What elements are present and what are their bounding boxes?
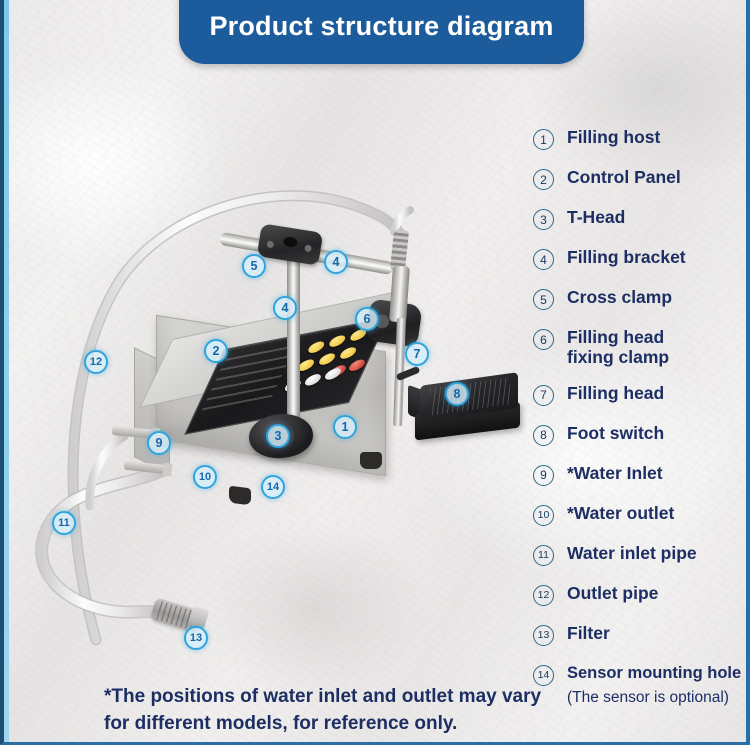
- page-title: Product structure diagram: [209, 11, 553, 42]
- panel-button-red-2[interactable]: [347, 358, 367, 372]
- legend-item-4[interactable]: 4 Filling bracket: [533, 248, 750, 270]
- legend-label-10: *Water outlet: [567, 504, 674, 524]
- cross-clamp-hole: [283, 236, 298, 248]
- legend-list: 1 Filling host 2 Control Panel 3 T-Head …: [533, 128, 750, 717]
- product-photo: [4, 0, 534, 690]
- legend-item-14[interactable]: 14 Sensor mounting hole: [533, 664, 750, 686]
- legend-label-3: T-Head: [567, 208, 625, 228]
- marker-outlet-pipe[interactable]: 12: [84, 350, 108, 374]
- legend-label-9: *Water Inlet: [567, 464, 663, 484]
- legend-label-6: Filling head fixing clamp: [567, 328, 669, 368]
- marker-cross-clamp[interactable]: 5: [242, 254, 266, 278]
- legend-item-2[interactable]: 2 Control Panel: [533, 168, 750, 190]
- legend-item-7[interactable]: 7 Filling head: [533, 384, 750, 406]
- marker-fixing-clamp[interactable]: 6: [355, 307, 379, 331]
- marker-water-inlet[interactable]: 9: [147, 431, 171, 455]
- product-structure-diagram-page: Product structure diagram: [0, 0, 750, 745]
- marker-filling-head[interactable]: 7: [405, 342, 429, 366]
- panel-button-yellow-2[interactable]: [327, 334, 347, 348]
- legend-label-1: Filling host: [567, 128, 660, 148]
- legend-item-12[interactable]: 12 Outlet pipe: [533, 584, 750, 606]
- legend-label-7: Filling head: [567, 384, 664, 404]
- legend-number-8: 8: [533, 425, 554, 446]
- legend-label-8: Foot switch: [567, 424, 664, 444]
- legend-number-12: 12: [533, 585, 554, 606]
- marker-filling-bracket-post[interactable]: 4: [273, 296, 297, 320]
- marker-water-outlet[interactable]: 10: [193, 465, 217, 489]
- marker-t-head[interactable]: 3: [266, 424, 290, 448]
- machine-foot-right: [360, 452, 382, 469]
- legend-label-2: Control Panel: [567, 168, 681, 188]
- water-inlet-pipe: [42, 470, 164, 612]
- legend-label-12: Outlet pipe: [567, 584, 658, 604]
- marker-sensor-hole[interactable]: 14: [261, 475, 285, 499]
- cross-clamp-bolt-2: [304, 244, 312, 252]
- water-outlet-port-tip: [162, 463, 172, 477]
- panel-button-yellow-6[interactable]: [338, 346, 358, 360]
- marker-filling-host[interactable]: 1: [333, 415, 357, 439]
- legend-number-14: 14: [533, 665, 554, 686]
- legend-label-11: Water inlet pipe: [567, 544, 697, 564]
- legend-label-4: Filling bracket: [567, 248, 686, 268]
- legend-item-6[interactable]: 6 Filling head fixing clamp: [533, 328, 750, 368]
- marker-foot-switch[interactable]: 8: [445, 382, 469, 406]
- legend-label-14: Sensor mounting hole: [567, 664, 741, 683]
- marker-filling-bracket-bar[interactable]: 4: [324, 250, 348, 274]
- footnote-text: *The positions of water inlet and outlet…: [104, 684, 664, 738]
- panel-button-yellow-5[interactable]: [317, 352, 337, 366]
- marker-water-inlet-pipe[interactable]: 11: [52, 511, 76, 535]
- cross-clamp-bolt-1: [266, 240, 274, 248]
- legend-item-3[interactable]: 3 T-Head: [533, 208, 750, 230]
- legend-number-10: 10: [533, 505, 554, 526]
- legend-item-9[interactable]: 9 *Water Inlet: [533, 464, 750, 486]
- legend-number-6: 6: [533, 329, 554, 350]
- panel-button-white-2[interactable]: [303, 373, 323, 387]
- legend-number-3: 3: [533, 209, 554, 230]
- legend-number-11: 11: [533, 545, 554, 566]
- legend-number-1: 1: [533, 129, 554, 150]
- title-banner: Product structure diagram: [179, 0, 584, 64]
- legend-number-9: 9: [533, 465, 554, 486]
- legend-number-13: 13: [533, 625, 554, 646]
- marker-filter[interactable]: 13: [184, 626, 208, 650]
- legend-item-10[interactable]: 10 *Water outlet: [533, 504, 750, 526]
- legend-number-2: 2: [533, 169, 554, 190]
- legend-item-1[interactable]: 1 Filling host: [533, 128, 750, 150]
- legend-item-13[interactable]: 13 Filter: [533, 624, 750, 646]
- legend-number-5: 5: [533, 289, 554, 310]
- machine-foot-front: [229, 486, 251, 506]
- foot-switch-grip-texture: [430, 377, 510, 415]
- marker-control-panel[interactable]: 2: [204, 339, 228, 363]
- legend-item-5[interactable]: 5 Cross clamp: [533, 288, 750, 310]
- legend-label-13: Filter: [567, 624, 610, 644]
- legend-item-11[interactable]: 11 Water inlet pipe: [533, 544, 750, 566]
- legend-item-8[interactable]: 8 Foot switch: [533, 424, 750, 446]
- panel-button-yellow-1[interactable]: [306, 340, 326, 354]
- legend-label-5: Cross clamp: [567, 288, 672, 308]
- legend-number-4: 4: [533, 249, 554, 270]
- legend-number-7: 7: [533, 385, 554, 406]
